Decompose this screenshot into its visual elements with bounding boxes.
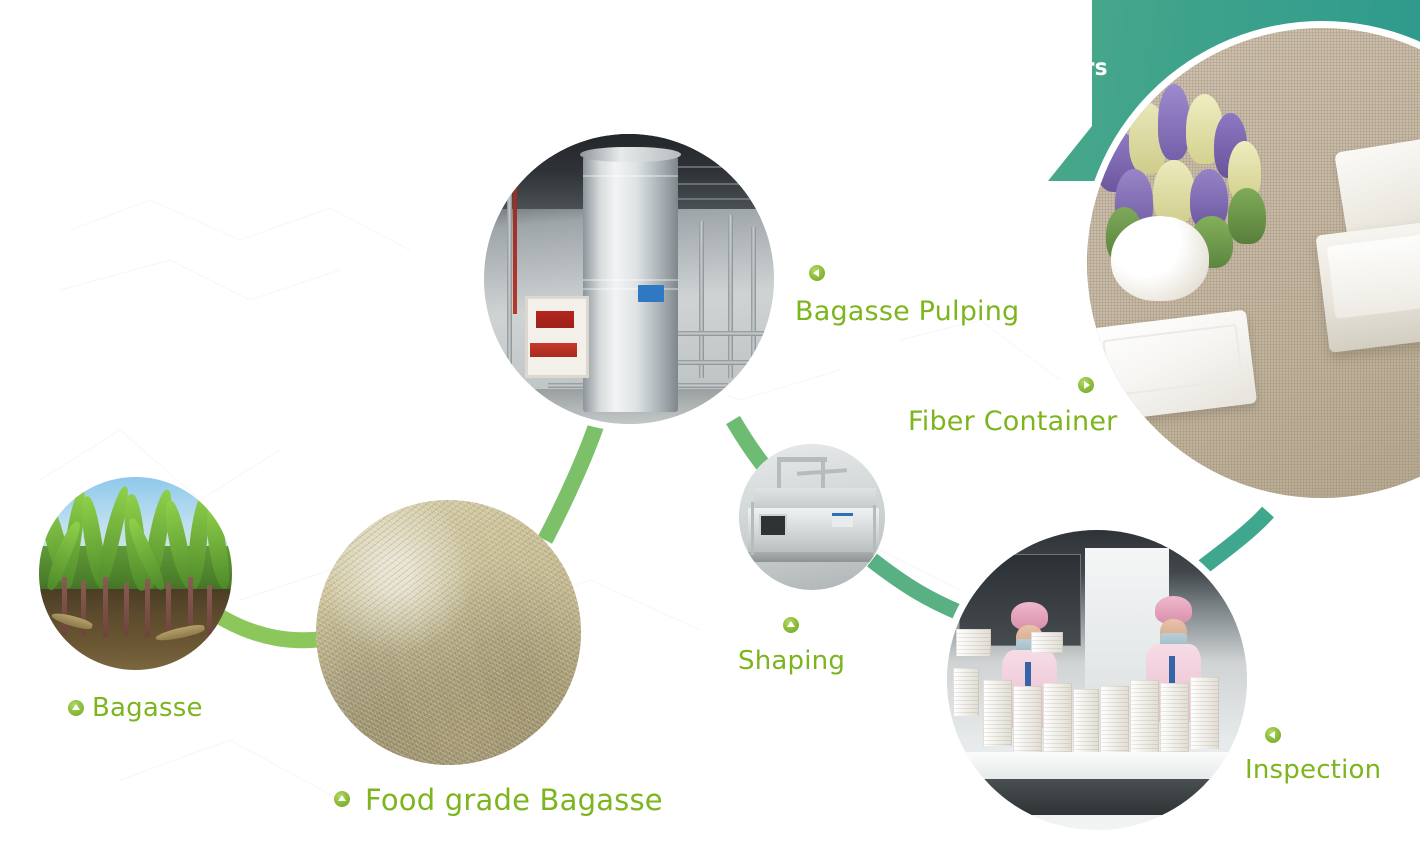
step-label-inspection: Inspection (1245, 755, 1381, 785)
title-underline (78, 162, 279, 165)
page-subtitle: Sugarcane Bagasse Fiber Containers (653, 55, 1108, 81)
triangle-up-icon (68, 700, 84, 716)
photo-bagasse-pulping-tank (484, 134, 774, 424)
step-label-bagasse-pulping: Bagasse Pulping (795, 296, 1019, 327)
photo-sugarcane-field (39, 477, 232, 670)
step-label-food-grade-bagasse: Food grade Bagasse (365, 783, 663, 817)
step-label-bagasse: Bagasse (92, 693, 203, 723)
step-label-shaping: Shaping (738, 646, 845, 676)
page-title-line2: RAW MATERIALS (78, 61, 398, 107)
triangle-up-icon (334, 791, 350, 807)
photo-inspection-workers (947, 530, 1247, 830)
page-title-line1: PRODUCTS (78, 17, 289, 63)
photo-shaping-machine (739, 444, 885, 590)
photo-food-grade-bagasse (316, 500, 581, 765)
triangle-left-icon (809, 265, 825, 281)
photo-fiber-container-product (1087, 28, 1420, 498)
triangle-left-icon (1265, 727, 1281, 743)
triangle-right-icon (1078, 377, 1094, 393)
infographic-canvas: PRODUCTSRAW MATERIALS Sugarcane Bagasse … (0, 0, 1420, 851)
step-label-fiber-container: Fiber Container (908, 406, 1117, 437)
triangle-up-icon (783, 617, 799, 633)
page-title: PRODUCTSRAW MATERIALS (78, 18, 398, 106)
